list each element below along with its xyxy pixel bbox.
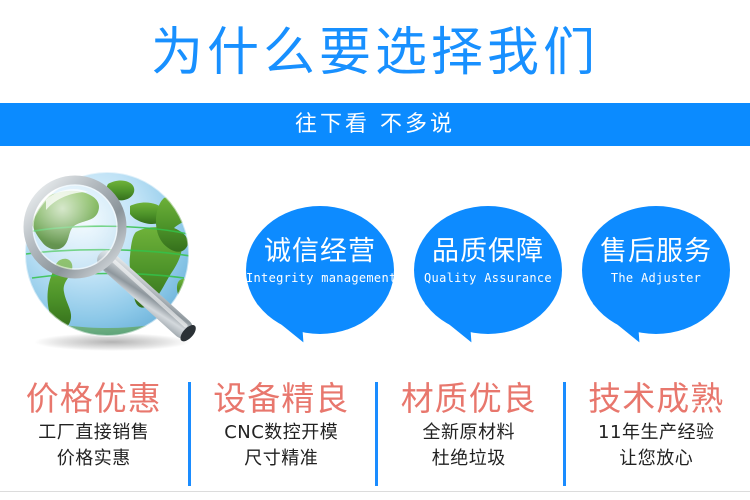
- bottom-divider: [0, 491, 750, 492]
- feature-bubble-after-sales[interactable]: 售后服务 The Adjuster: [582, 206, 730, 344]
- feature-subtitle-line2: 价格实惠: [0, 446, 188, 472]
- feature-subtitle-line2: 让您放心: [563, 446, 750, 472]
- feature-title: 材质优良: [375, 378, 563, 420]
- feature-column-price: 价格优惠 工厂直接销售 价格实惠: [0, 378, 188, 490]
- bubble-title-en: The Adjuster: [582, 268, 730, 288]
- feature-subtitle-line1: CNC数控开模: [188, 420, 376, 446]
- bubble-title-cn: 售后服务: [582, 236, 730, 268]
- feature-columns: 价格优惠 工厂直接销售 价格实惠 设备精良 CNC数控开模 尺寸精准 材质优良 …: [0, 378, 750, 490]
- bubble-title-cn: 诚信经营: [246, 236, 394, 268]
- feature-bubble-integrity[interactable]: 诚信经营 Integrity management: [246, 206, 394, 344]
- promo-banner-page: 为什么要选择我们 往下看 不多说: [0, 0, 750, 500]
- bubble-labels: 售后服务 The Adjuster: [582, 236, 730, 288]
- feature-subtitle-line1: 11年生产经验: [563, 420, 750, 446]
- bubble-labels: 品质保障 Quality Assurance: [414, 236, 562, 288]
- feature-bubble-quality[interactable]: 品质保障 Quality Assurance: [414, 206, 562, 344]
- bubble-labels: 诚信经营 Integrity management: [246, 236, 394, 288]
- bubble-title-en: Integrity management: [246, 268, 394, 288]
- feature-subtitle-line2: 尺寸精准: [188, 446, 376, 472]
- subtitle-banner: 往下看 不多说: [0, 103, 750, 146]
- feature-subtitle-line1: 工厂直接销售: [0, 420, 188, 446]
- middle-section: 诚信经营 Integrity management 品质保障 Quality A…: [0, 150, 750, 375]
- feature-title: 价格优惠: [0, 378, 188, 420]
- page-title: 为什么要选择我们: [0, 22, 750, 84]
- feature-column-technology: 技术成熟 11年生产经验 让您放心: [563, 378, 750, 490]
- bubble-title-en: Quality Assurance: [414, 268, 562, 288]
- feature-title: 设备精良: [188, 378, 376, 420]
- feature-title: 技术成熟: [563, 378, 750, 420]
- subtitle-banner-text: 往下看 不多说: [0, 103, 750, 146]
- feature-column-equipment: 设备精良 CNC数控开模 尺寸精准: [188, 378, 376, 490]
- globe-magnifier-icon: [12, 162, 237, 367]
- feature-subtitle-line2: 杜绝垃圾: [375, 446, 563, 472]
- feature-column-material: 材质优良 全新原材料 杜绝垃圾: [375, 378, 563, 490]
- bubble-title-cn: 品质保障: [414, 236, 562, 268]
- feature-subtitle-line1: 全新原材料: [375, 420, 563, 446]
